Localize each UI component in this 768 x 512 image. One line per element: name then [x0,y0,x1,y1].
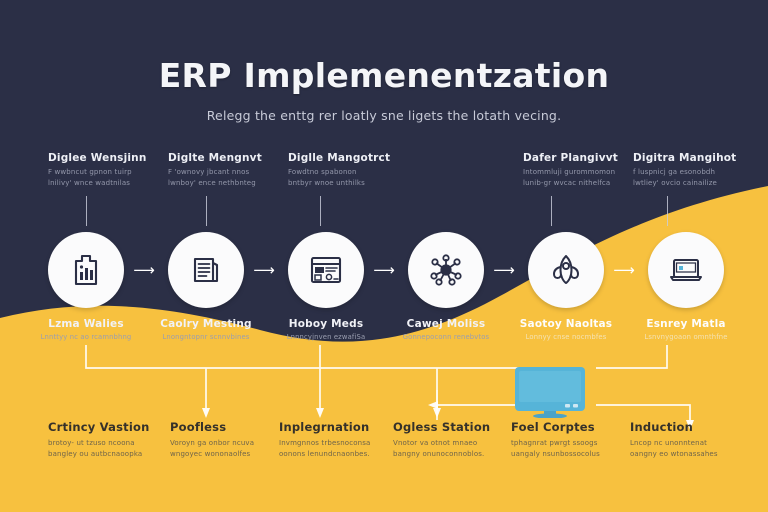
process-node-3-circle [288,232,364,308]
process-node-4[interactable]: Cawej Moliss Gonnepoconn renebvtos [386,232,506,341]
rocket-icon [545,249,587,291]
process-node-3[interactable]: Hoboy Meds Lnnncyjnven ezwafiSa [266,232,386,341]
browser-window-icon [305,249,347,291]
top-label-5[interactable]: Digitra Mangihot f luspnicj ga esonobdh … [633,152,763,189]
process-node-6-sub: Lsnvnygoaon omnthfne [626,333,746,341]
bottom-label-1[interactable]: Crtincy Vastion brotoy- ut tzuso ncoona … [48,420,183,460]
top-label-5-sub: f luspnicj ga esonobdh lwtliey' ovcio ca… [633,167,763,189]
process-node-3-title: Hoboy Meds [266,318,386,330]
bottom-label-4-title: Ogless Station [393,420,528,434]
bottom-label-5-title: Foel Corptes [511,420,646,434]
tick-line-5 [667,196,668,226]
bottom-label-5-sub: tphagnrat pwrgt ssoogs uangaly nsunbosso… [511,438,646,460]
process-node-4-circle [408,232,484,308]
process-node-1-sub: Lnnttyy nc ao rcamnbhng [26,333,146,341]
process-node-1-label: Lzma Walies Lnnttyy nc ao rcamnbhng [26,318,146,341]
top-label-3-sub: Fowdtno spabonon bntbyr wnoe unthilks [288,167,418,189]
process-node-3-sub: Lnnncyjnven ezwafiSa [266,333,386,341]
bottom-label-5[interactable]: Foel Corptes tphagnrat pwrgt ssoogs uang… [511,420,646,460]
process-node-2-title: Caolry Mesting [146,318,266,330]
process-node-6[interactable]: Esnrey Matla Lsnvnygoaon omnthfne [626,232,746,341]
bottom-label-6[interactable]: Induction Lncop nc unonntenat oangny eo … [630,420,765,460]
page-subtitle: Relegg the enttg rer loatly sne ligets t… [0,108,768,123]
process-node-6-circle [648,232,724,308]
document-icon [186,250,226,290]
top-label-3-title: Diglle Mangotrct [288,152,418,164]
top-label-1[interactable]: Diglee Wensjinn F wwbncut gpnon tuirp ln… [48,152,178,189]
process-node-6-title: Esnrey Matla [626,318,746,330]
process-node-2[interactable]: Caolry Mesting Lnongntopnr scnnvbines [146,232,266,341]
header-block: ERP Implemenentzation Relegg the enttg r… [0,58,768,123]
process-node-5-label: Saotoy Naoltas Lonnyy cnse nocmbfes [506,318,626,341]
process-node-2-circle [168,232,244,308]
laptop-icon [665,249,707,291]
clipboard-chart-icon [66,250,106,290]
page-title: ERP Implemenentzation [0,58,768,95]
process-node-5[interactable]: Saotoy Naoltas Lonnyy cnse nocmbfes [506,232,626,341]
process-node-1-title: Lzma Walies [26,318,146,330]
top-label-2-sub: F 'ownovy jbcant nnos lwnboy' ence nethb… [168,167,298,189]
top-label-row: Diglee Wensjinn F wwbncut gpnon tuirp ln… [0,152,768,194]
process-node-3-label: Hoboy Meds Lnnncyjnven ezwafiSa [266,318,386,341]
top-label-5-title: Digitra Mangihot [633,152,763,164]
top-label-3[interactable]: Diglle Mangotrct Fowdtno spabonon bntbyr… [288,152,418,189]
top-label-1-sub: F wwbncut gpnon tuirp lnilivy' wnce wadt… [48,167,178,189]
arrowhead-down-3 [433,408,441,418]
bottom-label-1-title: Crtincy Vastion [48,420,183,434]
arrowhead-down-1 [202,408,210,418]
process-node-5-circle [528,232,604,308]
tick-line-4 [551,196,552,226]
process-node-1[interactable]: Lzma Walies Lnnttyy nc ao rcamnbhng [26,232,146,341]
arrowhead-down-2 [316,408,324,418]
arrowhead-left-1 [428,401,438,409]
bottom-label-4-sub: Vnotor va otnot mnaeo bangny onunoconnob… [393,438,528,460]
process-node-5-title: Saotoy Naoltas [506,318,626,330]
top-label-1-title: Diglee Wensjinn [48,152,178,164]
process-node-4-title: Cawej Moliss [386,318,506,330]
tick-line-1 [86,196,87,226]
process-node-5-sub: Lonnyy cnse nocmbfes [506,333,626,341]
process-node-1-circle [48,232,124,308]
tick-line-2 [206,196,207,226]
tick-line-3 [320,196,321,226]
bottom-label-6-title: Induction [630,420,765,434]
bottom-label-row: Crtincy Vastion brotoy- ut tzuso ncoona … [0,420,768,490]
network-nodes-icon [425,249,467,291]
central-monitor-icon[interactable] [513,366,587,418]
bottom-label-4[interactable]: Ogless Station Vnotor va otnot mnaeo ban… [393,420,528,460]
bottom-label-1-sub: brotoy- ut tzuso ncoona bangley ou autbc… [48,438,183,460]
top-label-2[interactable]: Diglte Mengnvt F 'ownovy jbcant nnos lwn… [168,152,298,189]
top-label-2-title: Diglte Mengnvt [168,152,298,164]
process-node-6-label: Esnrey Matla Lsnvnygoaon omnthfne [626,318,746,341]
process-node-row: Lzma Walies Lnnttyy nc ao rcamnbhng ⟶ Ca… [0,232,768,352]
bottom-label-6-sub: Lncop nc unonntenat oangny eo wtonassahe… [630,438,765,460]
process-node-4-sub: Gonnepoconn renebvtos [386,333,506,341]
process-node-2-label: Caolry Mesting Lnongntopnr scnnvbines [146,318,266,341]
process-node-4-label: Cawej Moliss Gonnepoconn renebvtos [386,318,506,341]
process-node-2-sub: Lnongntopnr scnnvbines [146,333,266,341]
infographic-canvas: ERP Implemenentzation Relegg the enttg r… [0,0,768,512]
